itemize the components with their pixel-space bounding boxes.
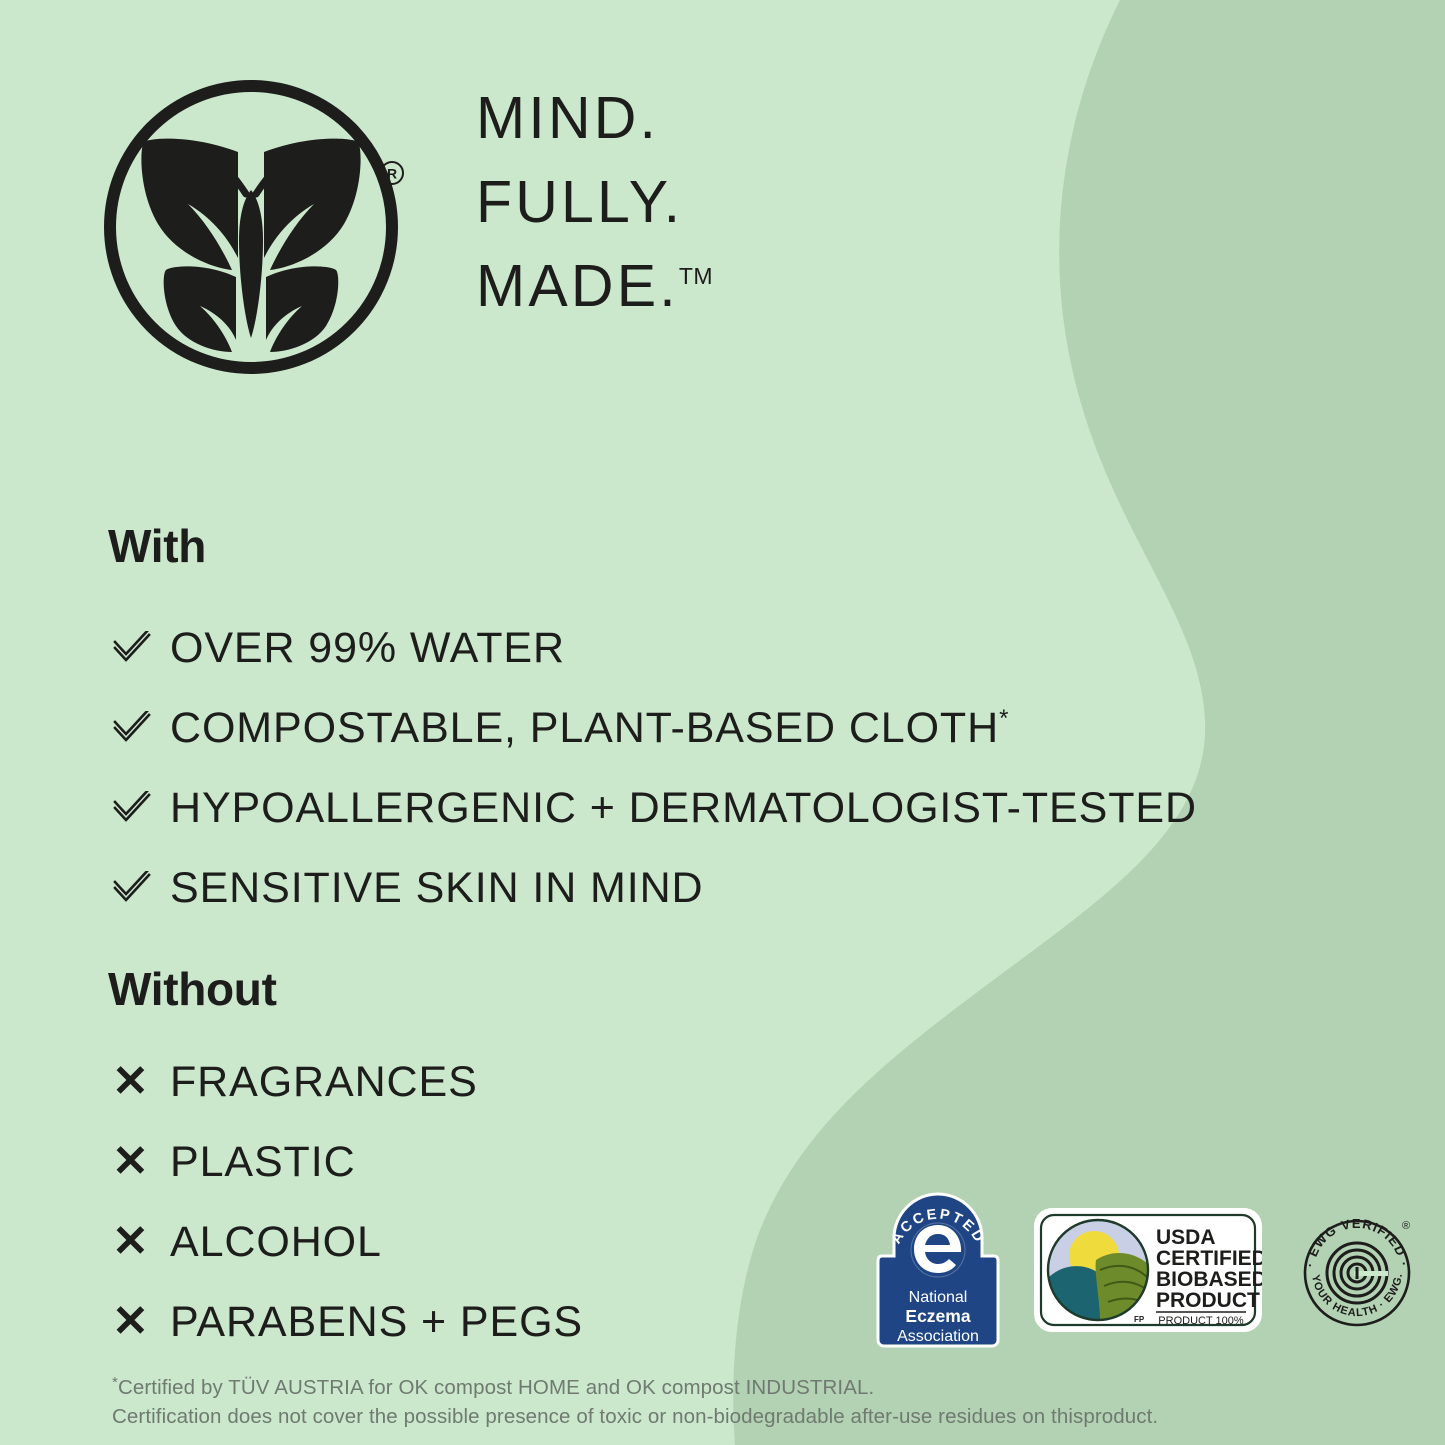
list-item-label: HYPOALLERGENIC + DERMATOLOGIST-TESTED: [170, 784, 1197, 833]
headline-line-2: FULLY.: [476, 174, 713, 232]
claim-text: COMPOSTABLE, PLANT-BASED CLOTH: [170, 704, 999, 752]
list-item-label: SENSITIVE SKIN IN MIND: [170, 864, 704, 913]
footnote: *Certified by TÜV AUSTRIA for OK compost…: [112, 1372, 1352, 1431]
page-title: MIND. FULLY. MADE.TM: [476, 90, 713, 315]
svg-text:R: R: [387, 166, 397, 182]
list-item: ✕ PARABENS + PEGS: [112, 1282, 583, 1362]
usda-line-4: PRODUCT: [1156, 1289, 1260, 1312]
product-claims-panel: R MIND. FULLY. MADE.TM With OVER 99% WAT…: [0, 0, 1445, 1445]
list-item-label: OVER 99% WATER: [170, 624, 565, 673]
footnote-line-1-text: Certified by TÜV AUSTRIA for OK compost …: [118, 1376, 874, 1399]
list-item-label: PARABENS + PEGS: [170, 1298, 583, 1347]
usda-line-1: USDA: [1156, 1226, 1216, 1249]
with-claims-list: OVER 99% WATER COMPOSTABLE, PLANT-BASED …: [112, 608, 1197, 928]
usda-corner-mark: FP: [1134, 1315, 1145, 1324]
without-section-heading: Without: [108, 962, 277, 1016]
national-eczema-association-badge: ACCEPTED National Eczema Association: [876, 1192, 1000, 1348]
usda-certified-biobased-product-badge: FP USDA CERTIFIED BIOBASED PRODUCT PRODU…: [1034, 1208, 1262, 1332]
list-item: HYPOALLERGENIC + DERMATOLOGIST-TESTED: [112, 768, 1197, 848]
ewg-registered-symbol: ®: [1402, 1220, 1410, 1232]
usda-subline: PRODUCT 100%: [1158, 1315, 1244, 1327]
claim-superscript: *: [999, 705, 1008, 732]
footnote-line-1: *Certified by TÜV AUSTRIA for OK compost…: [112, 1372, 1352, 1402]
nea-line-1: National: [909, 1289, 968, 1306]
claim-text: SENSITIVE SKIN IN MIND: [170, 864, 704, 912]
cross-icon: ✕: [112, 1300, 170, 1344]
check-icon: [112, 871, 170, 905]
cross-icon: ✕: [112, 1060, 170, 1104]
list-item: ✕ ALCOHOL: [112, 1202, 583, 1282]
claim-text: OVER 99% WATER: [170, 624, 565, 672]
cross-icon: ✕: [112, 1140, 170, 1184]
ewg-verified-badge: · EWG VERIFIED · · FOR YOUR HEALTH · EWG…: [1296, 1209, 1418, 1331]
usda-line-2: CERTIFIED: [1156, 1247, 1262, 1270]
check-icon: [112, 631, 170, 665]
cross-glyph: ✕: [112, 1220, 149, 1264]
with-section-heading: With: [108, 519, 206, 573]
list-item-label: FRAGRANCES: [170, 1058, 478, 1107]
butterfly-in-circle-logo: [96, 72, 406, 382]
headline-line-3-text: MADE.: [476, 253, 679, 319]
list-item-label: ALCOHOL: [170, 1218, 382, 1267]
list-item-label: COMPOSTABLE, PLANT-BASED CLOTH*: [170, 704, 1008, 753]
nea-line-2: Eczema: [905, 1306, 970, 1326]
headline-line-3: MADE.TM: [476, 258, 713, 316]
nea-line-3: Association: [897, 1328, 979, 1345]
certification-badge-row: ACCEPTED National Eczema Association: [876, 1190, 1418, 1350]
check-icon: [112, 791, 170, 825]
list-item: SENSITIVE SKIN IN MIND: [112, 848, 1197, 928]
footnote-line-2: Certification does not cover the possibl…: [112, 1402, 1352, 1431]
list-item: ✕ FRAGRANCES: [112, 1042, 583, 1122]
cross-glyph: ✕: [112, 1060, 149, 1104]
brand-lockup: R MIND. FULLY. MADE.TM: [96, 72, 796, 402]
check-icon: [112, 711, 170, 745]
without-claims-list: ✕ FRAGRANCES ✕ PLASTIC ✕ ALCOHOL ✕ PARAB…: [112, 1042, 583, 1362]
cross-icon: ✕: [112, 1220, 170, 1264]
registered-trademark-icon: R: [379, 160, 405, 186]
list-item-label: PLASTIC: [170, 1138, 356, 1187]
list-item: ✕ PLASTIC: [112, 1122, 583, 1202]
trademark-symbol: TM: [679, 263, 713, 289]
usda-line-3: BIOBASED: [1156, 1268, 1262, 1291]
list-item: OVER 99% WATER: [112, 608, 1197, 688]
claim-text: HYPOALLERGENIC + DERMATOLOGIST-TESTED: [170, 784, 1197, 832]
cross-glyph: ✕: [112, 1140, 149, 1184]
list-item: COMPOSTABLE, PLANT-BASED CLOTH*: [112, 688, 1197, 768]
cross-glyph: ✕: [112, 1300, 149, 1344]
headline-line-1: MIND.: [476, 90, 713, 148]
